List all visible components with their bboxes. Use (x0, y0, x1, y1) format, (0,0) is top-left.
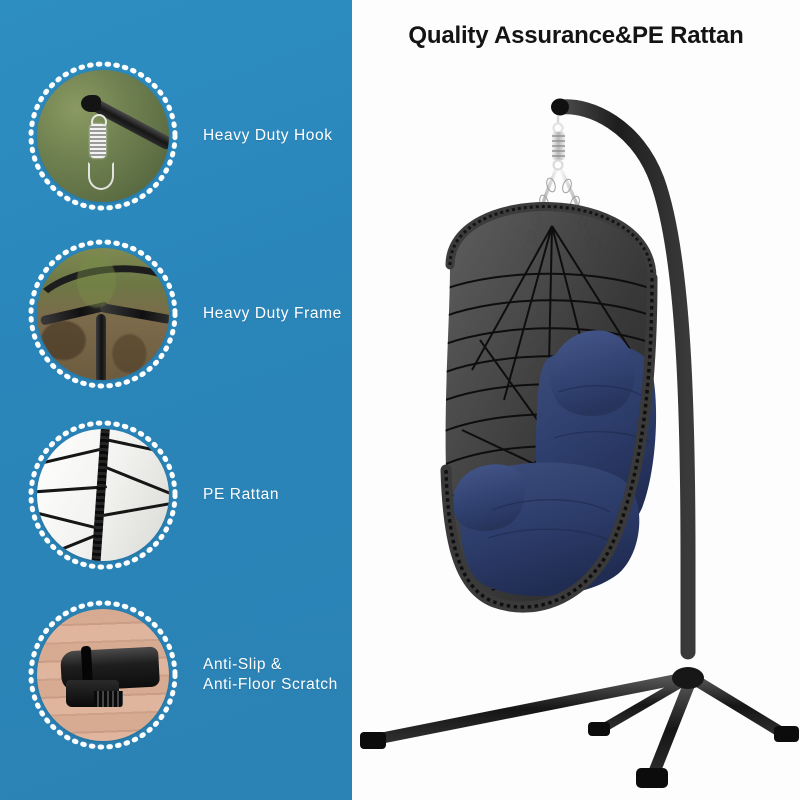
stand-base (360, 640, 799, 788)
product-panel: Quality Assurance&PE Rattan (352, 0, 800, 800)
feature-label-pe-rattan: PE Rattan (203, 485, 352, 505)
foot-cap-back (588, 722, 610, 736)
base-leg-right (692, 678, 784, 734)
feature-row-pe-rattan: PE Rattan (0, 417, 352, 597)
feature-row-heavy-duty-hook: Heavy Duty Hook (0, 58, 352, 238)
features-panel: Heavy Duty Hook Heavy Duty Frame (0, 0, 352, 800)
pe-rattan-photo (37, 429, 169, 561)
feature-image-heavy-duty-hook (25, 58, 181, 214)
hanging-egg-chair-illustration (352, 40, 800, 800)
product-feature-infographic: Heavy Duty Hook Heavy Duty Frame (0, 0, 800, 800)
feature-row-heavy-duty-frame: Heavy Duty Frame (0, 236, 352, 416)
foot-cap-left (360, 732, 386, 749)
feature-label-anti-slip-line1: Anti-Slip & (203, 655, 352, 675)
anti-slip-foot-photo (37, 609, 169, 741)
hook-spring-photo (37, 70, 169, 202)
feature-label-anti-slip: Anti-Slip & Anti-Floor Scratch (203, 655, 352, 695)
foot-cap-right (774, 726, 799, 742)
foot-cap-front (636, 768, 668, 788)
feature-image-pe-rattan (25, 417, 181, 573)
feature-label-heavy-duty-hook: Heavy Duty Hook (203, 126, 352, 146)
feature-image-heavy-duty-frame (25, 236, 181, 392)
feature-label-anti-slip-line2: Anti-Floor Scratch (203, 675, 352, 695)
feature-row-anti-slip: Anti-Slip & Anti-Floor Scratch (0, 597, 352, 777)
suspension-spring (552, 116, 565, 170)
feature-image-anti-slip (25, 597, 181, 753)
frame-base-photo (37, 248, 169, 380)
feature-label-heavy-duty-frame: Heavy Duty Frame (203, 304, 352, 324)
